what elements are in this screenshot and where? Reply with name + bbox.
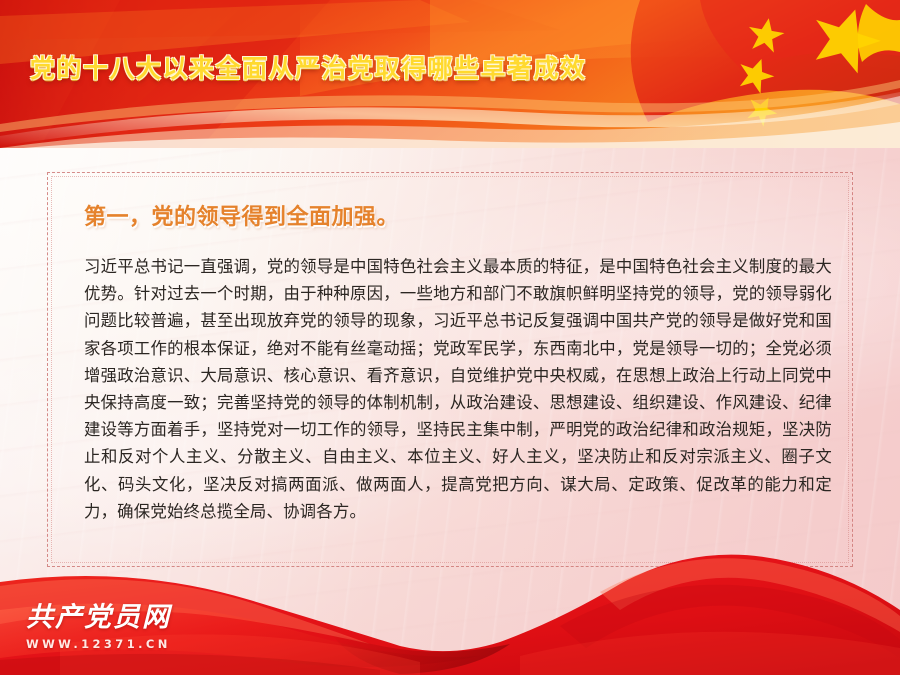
page-title: 党的十八大以来全面从严治党取得哪些卓著成效 xyxy=(30,49,587,85)
section-heading: 第一，党的领导得到全面加强。 xyxy=(84,199,830,231)
site-logo-url: WWW.12371.CN xyxy=(26,637,226,651)
content-panel: 第一，党的领导得到全面加强。 习近平总书记一直强调，党的领导是中国特色社会主义最… xyxy=(47,172,853,567)
slide-root: 党的十八大以来全面从严治党取得哪些卓著成效 第一，党的领导得到全面加强。 习近平… xyxy=(0,0,900,675)
header-banner: 党的十八大以来全面从严治党取得哪些卓著成效 xyxy=(0,0,900,148)
body-paragraph: 习近平总书记一直强调，党的领导是中国特色社会主义最本质的特征，是中国特色社会主义… xyxy=(84,253,832,525)
site-logo[interactable]: 共产党员网 WWW.12371.CN xyxy=(26,604,226,651)
site-logo-text: 共产党员网 xyxy=(26,604,226,631)
content-panel-body: 第一，党的领导得到全面加强。 习近平总书记一直强调，党的领导是中国特色社会主义最… xyxy=(84,199,830,525)
